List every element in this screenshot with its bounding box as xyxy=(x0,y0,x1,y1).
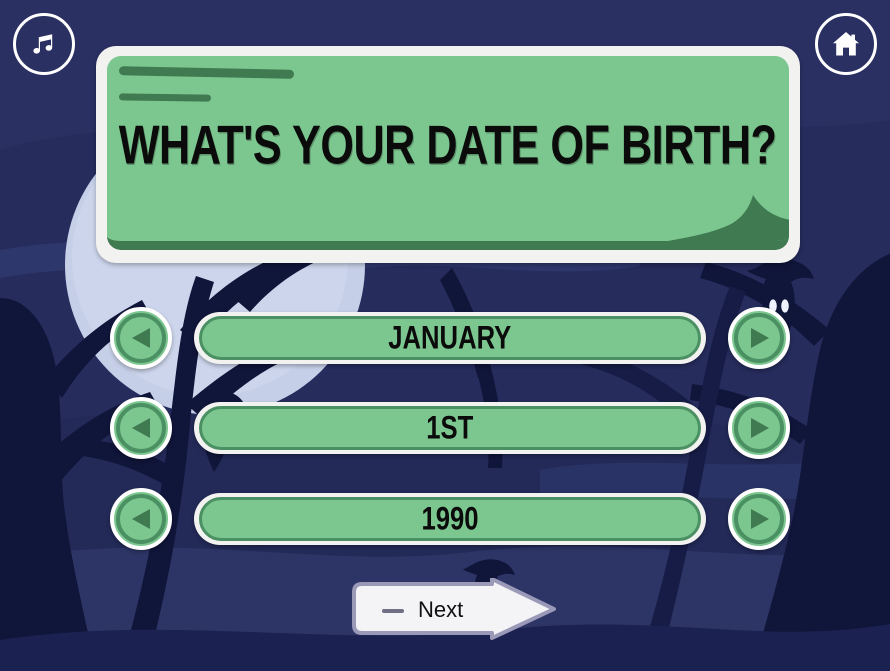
triangle-right-icon xyxy=(748,416,770,440)
home-button[interactable] xyxy=(815,13,877,75)
next-dash-decoration xyxy=(382,609,404,613)
triangle-left-icon xyxy=(130,416,152,440)
day-value-inner: 1ST xyxy=(199,406,701,450)
question-panel-inner: WHAT'S YOUR DATE OF BIRTH? xyxy=(107,56,789,250)
day-next-button[interactable] xyxy=(728,397,790,459)
month-value-field[interactable]: JANUARY xyxy=(194,312,706,364)
day-selector-row: 1ST xyxy=(110,397,790,459)
triangle-right-icon xyxy=(748,326,770,350)
month-next-button[interactable] xyxy=(728,307,790,369)
next-button[interactable]: Next xyxy=(344,578,559,640)
brush-stroke-decoration xyxy=(119,93,211,101)
question-text: WHAT'S YOUR DATE OF BIRTH? xyxy=(119,113,777,184)
day-value-field[interactable]: 1ST xyxy=(194,402,706,454)
year-selector-row: 1990 xyxy=(110,488,790,550)
triangle-left-icon xyxy=(130,326,152,350)
year-value-text: 1990 xyxy=(421,500,478,537)
month-selector-row: JANUARY xyxy=(110,307,790,369)
year-value-field[interactable]: 1990 xyxy=(194,493,706,545)
month-value-text: JANUARY xyxy=(388,319,511,356)
next-button-label: Next xyxy=(418,597,463,623)
home-icon xyxy=(830,28,862,60)
triangle-right-icon xyxy=(748,507,770,531)
year-prev-button[interactable] xyxy=(110,488,172,550)
month-prev-button[interactable] xyxy=(110,307,172,369)
year-value-inner: 1990 xyxy=(199,497,701,541)
app-screen: WHAT'S YOUR DATE OF BIRTH? JANUARY xyxy=(0,0,890,671)
day-value-text: 1ST xyxy=(426,409,473,446)
music-note-icon xyxy=(29,29,59,59)
question-panel: WHAT'S YOUR DATE OF BIRTH? xyxy=(96,46,800,263)
music-toggle-button[interactable] xyxy=(13,13,75,75)
brush-stroke-decoration xyxy=(119,66,294,79)
triangle-left-icon xyxy=(130,507,152,531)
month-value-inner: JANUARY xyxy=(199,316,701,360)
leaf-decoration xyxy=(645,183,789,245)
year-next-button[interactable] xyxy=(728,488,790,550)
day-prev-button[interactable] xyxy=(110,397,172,459)
